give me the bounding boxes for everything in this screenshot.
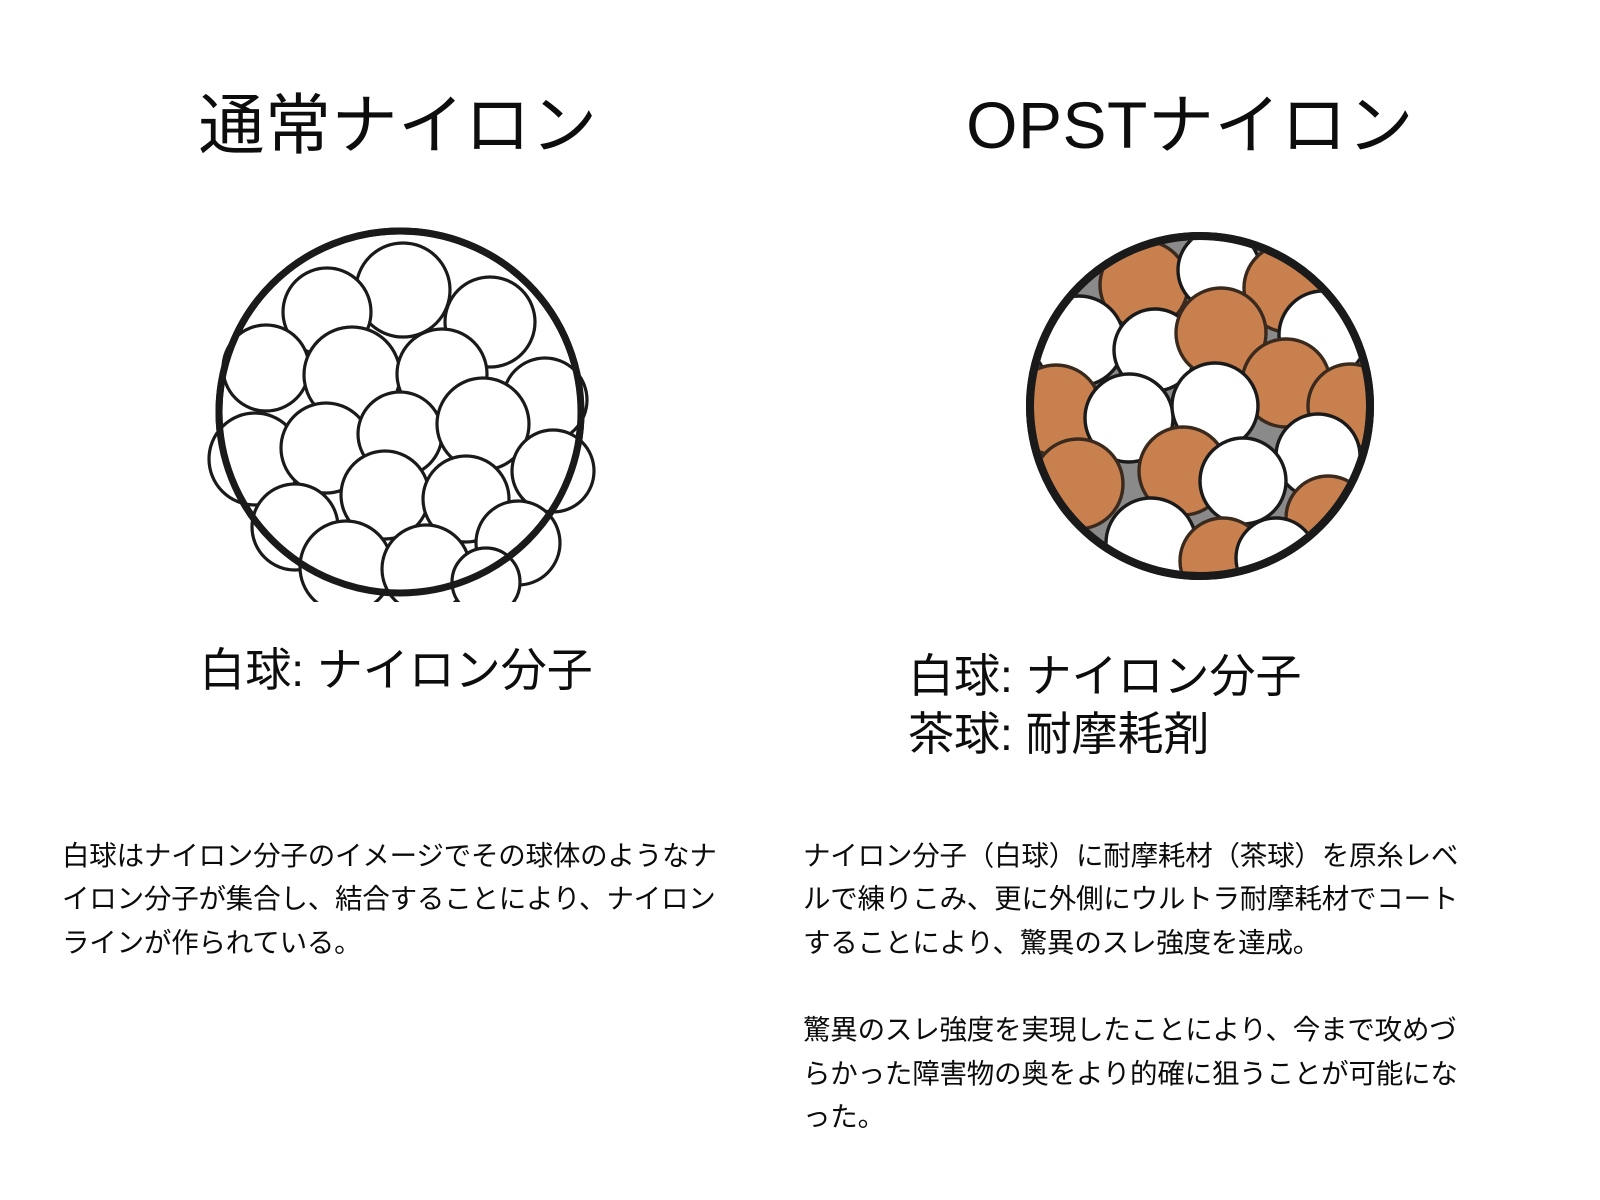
body-text-standard-nylon: 白球はナイロン分子のイメージでその球体のようなナイロン分子が集合し、結合すること…	[62, 834, 722, 964]
panel-opst-nylon: OPSTナイロン	[800, 0, 1600, 1200]
panel-title-opst-nylon: OPSTナイロン	[790, 88, 1590, 164]
panel-standard-nylon: 通常ナイロン	[0, 0, 800, 1200]
legend-standard-nylon: 白球: ナイロン分子	[0, 642, 796, 700]
standard-nylon-cross-section	[200, 222, 600, 602]
panel-title-standard-nylon: 通常ナイロン	[0, 88, 798, 164]
nylon-sphere	[1236, 518, 1316, 584]
comparison-page: 通常ナイロン	[0, 0, 1600, 1200]
nylon-sphere	[1200, 438, 1286, 524]
opst-nylon-cross-section	[1005, 228, 1395, 584]
legend-opst-nylon: 白球: ナイロン分子 茶球: 耐摩耗剤	[800, 648, 1600, 764]
paragraph: 白球はナイロン分子のイメージでその球体のようなナイロン分子が集合し、結合すること…	[62, 834, 722, 964]
paragraph: ナイロン分子（白球）に耐摩耗材（茶球）を原糸レベルで練りこみ、更に外側にウルトラ…	[803, 834, 1483, 964]
core-sphere-group	[1011, 229, 1392, 584]
paragraph: 驚異のスレ強度を実現したことにより、今まで攻めづらかった障害物の奥をより的確に狙…	[803, 1008, 1483, 1138]
body-text-opst-nylon: ナイロン分子（白球）に耐摩耗材（茶球）を原糸レベルで練りこみ、更に外側にウルトラ…	[803, 834, 1483, 1139]
